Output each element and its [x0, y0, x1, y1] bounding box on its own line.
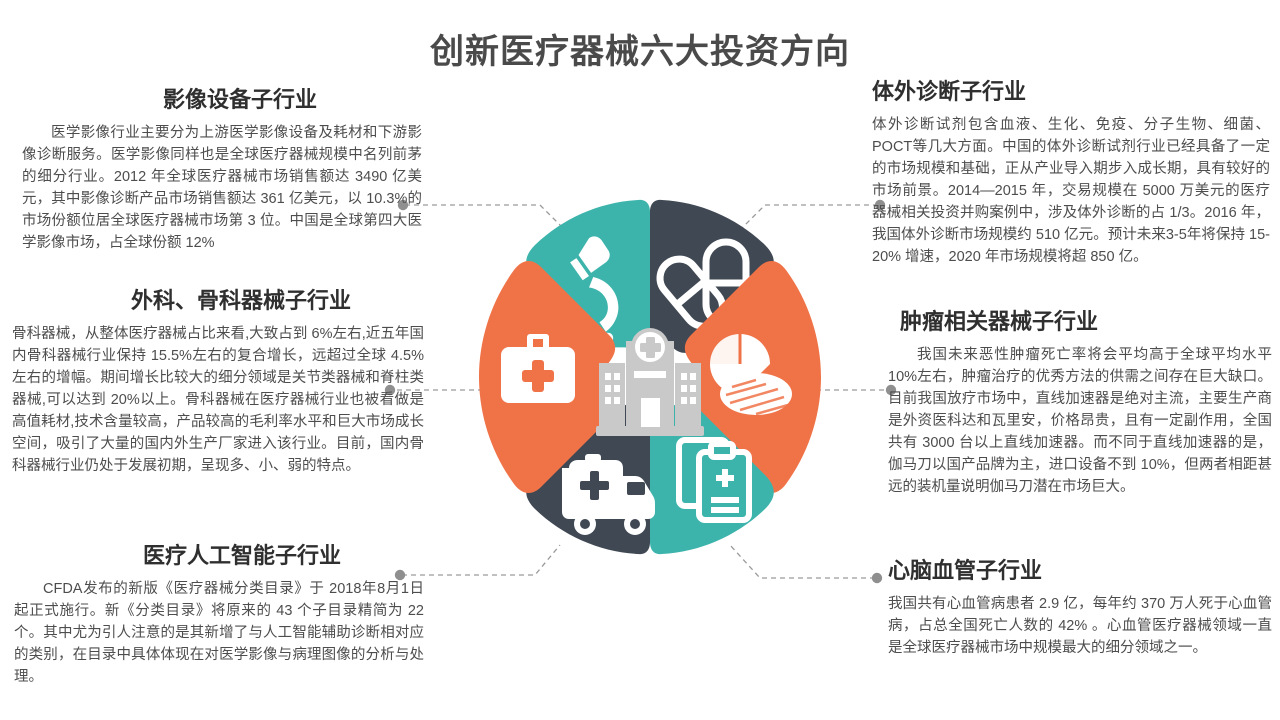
section-imaging-body: 医学影像行业主要分为上游医学影像设备及耗材和下游影像诊断服务。医学影像同样也是全…: [22, 122, 422, 254]
section-surgical: 外科、骨科器械子行业 骨科器械，从整体医疗器械占比来看,大致占到 6%左右,近五…: [12, 283, 424, 477]
section-cardio-body: 我国共有心血管病患者 2.9 亿，每年约 370 万人死于心血管病，占总全国死亡…: [888, 593, 1272, 659]
section-ai-heading: 医疗人工智能子行业: [14, 538, 424, 570]
section-surgical-heading: 外科、骨科器械子行业: [12, 283, 424, 315]
six-segment-wheel: [455, 182, 845, 572]
section-ivd-body: 体外诊断试剂包含血液、生化、免疫、分子生物、细菌、POCT等几大方面。中国的体外…: [872, 114, 1270, 268]
section-imaging-heading: 影像设备子行业: [22, 82, 422, 114]
section-oncology: 肿瘤相关器械子行业 我国未来恶性肿瘤死亡率将会平均高于全球平均水平 10%左右，…: [888, 304, 1272, 498]
section-ai-body: CFDA发布的新版《医疗器械分类目录》于 2018年8月1日起正式施行。新《分类…: [14, 578, 424, 688]
section-cardio: 心脑血管子行业 我国共有心血管病患者 2.9 亿，每年约 370 万人死于心血管…: [888, 553, 1272, 659]
page-title: 创新医疗器械六大投资方向: [0, 24, 1280, 73]
section-ivd-heading: 体外诊断子行业: [872, 74, 1270, 106]
section-surgical-body: 骨科器械，从整体医疗器械占比来看,大致占到 6%左右,近五年国内骨科器械行业保持…: [12, 323, 424, 477]
section-oncology-body: 我国未来恶性肿瘤死亡率将会平均高于全球平均水平 10%左右，肿瘤治疗的优秀方法的…: [888, 344, 1272, 498]
infographic-canvas: 创新医疗器械六大投资方向: [0, 0, 1280, 720]
section-ai: 医疗人工智能子行业 CFDA发布的新版《医疗器械分类目录》于 2018年8月1日…: [14, 538, 424, 688]
section-cardio-heading: 心脑血管子行业: [888, 553, 1272, 585]
section-ivd: 体外诊断子行业 体外诊断试剂包含血液、生化、免疫、分子生物、细菌、POCT等几大…: [872, 74, 1270, 268]
section-imaging: 影像设备子行业 医学影像行业主要分为上游医学影像设备及耗材和下游影像诊断服务。医…: [22, 82, 422, 254]
connector-dot-cardio: [872, 573, 882, 583]
section-oncology-heading: 肿瘤相关器械子行业: [888, 304, 1272, 336]
